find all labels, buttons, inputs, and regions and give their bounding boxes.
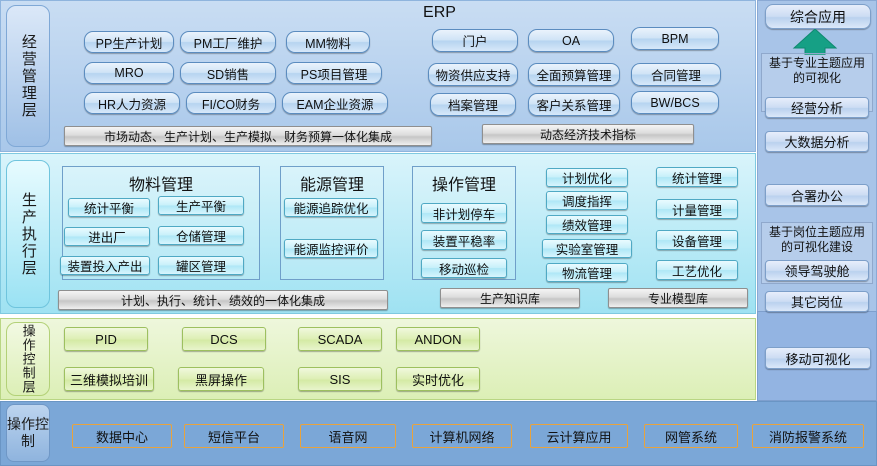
bar-integration-business[interactable]: 市场动态、生产计划、生产模拟、财务预算一体化集成 (64, 126, 432, 146)
ctl-dcs[interactable]: DCS (182, 327, 266, 351)
bar-economic-indicators[interactable]: 动态经济技术指标 (482, 124, 694, 144)
leader-cockpit-button[interactable]: 领导驾驶舱 (765, 260, 869, 281)
professional-visualization-caption: 基于专业主题应用 的可视化 (761, 56, 873, 86)
infra-sms-platform[interactable]: 短信平台 (184, 424, 284, 448)
metering-mgmt[interactable]: 计量管理 (656, 199, 738, 219)
material-tank-farm[interactable]: 罐区管理 (158, 256, 244, 275)
bigdata-analysis-button[interactable]: 大数据分析 (765, 131, 869, 152)
ctl-pid[interactable]: PID (64, 327, 148, 351)
erp-item-pm[interactable]: PM工厂维护 (180, 31, 276, 53)
app-oa[interactable]: OA (528, 29, 614, 52)
ctl-blackscreen[interactable]: 黑屏操作 (178, 367, 264, 391)
lab-management[interactable]: 实验室管理 (542, 239, 632, 258)
material-stat-balance[interactable]: 统计平衡 (68, 198, 150, 217)
ctl-andon[interactable]: ANDON (396, 327, 480, 351)
mobile-visualization-button[interactable]: 移动可视化 (765, 347, 871, 369)
op-unit-stability[interactable]: 装置平稳率 (421, 230, 507, 250)
app-supply[interactable]: 物资供应支持 (428, 63, 518, 86)
group-erp-title: ERP (1, 4, 877, 22)
group-material-title: 物料管理 (63, 171, 259, 195)
infra-computer-network[interactable]: 计算机网络 (412, 424, 512, 448)
material-prod-balance[interactable]: 生产平衡 (158, 196, 244, 215)
other-positions-button[interactable]: 其它岗位 (765, 291, 869, 312)
diagram-root: 经营管理层 ERP PP生产计划 PM工厂维护 MM物料 MRO SD销售 PS… (0, 0, 877, 466)
erp-item-pp[interactable]: PP生产计划 (84, 31, 174, 53)
infra-network-mgmt[interactable]: 网管系统 (644, 424, 738, 448)
business-analysis-button[interactable]: 经营分析 (765, 97, 869, 118)
material-in-out-plant[interactable]: 进出厂 (64, 227, 150, 246)
group-energy-title: 能源管理 (281, 171, 383, 195)
app-contract[interactable]: 合同管理 (631, 63, 721, 86)
ctl-3d-training[interactable]: 三维模拟培训 (64, 367, 154, 391)
up-arrow-icon (792, 29, 838, 55)
bar-integration-production[interactable]: 计划、执行、统计、绩效的一体化集成 (58, 290, 388, 310)
energy-monitor-eval[interactable]: 能源监控评价 (284, 239, 378, 258)
erp-item-hr[interactable]: HR人力资源 (84, 92, 180, 114)
app-budget[interactable]: 全面预算管理 (528, 63, 620, 86)
group-energy-management: 能源管理 (280, 166, 384, 280)
logistics-mgmt[interactable]: 物流管理 (546, 263, 628, 282)
equipment-mgmt[interactable]: 设备管理 (656, 230, 738, 250)
dispatch-command[interactable]: 调度指挥 (546, 191, 628, 210)
app-archive[interactable]: 档案管理 (430, 93, 516, 116)
infra-voice-network[interactable]: 语音网 (300, 424, 396, 448)
caption-line-2: 的可视化建设 (781, 240, 853, 254)
infra-fire-alarm[interactable]: 消防报警系统 (752, 424, 864, 448)
statistics-mgmt[interactable]: 统计管理 (656, 167, 738, 187)
layer-tab-production[interactable]: 生产执行层 (6, 160, 50, 308)
layer-tab-control-bottom[interactable]: 操作控制 (6, 404, 50, 462)
op-unplanned-stop[interactable]: 非计划停车 (421, 203, 507, 223)
plan-optimization[interactable]: 计划优化 (546, 168, 628, 187)
erp-item-sd[interactable]: SD销售 (180, 62, 276, 84)
group-operation-title: 操作管理 (413, 171, 515, 195)
erp-item-fico[interactable]: FI/CO财务 (186, 92, 276, 114)
material-unit-io[interactable]: 装置投入产出 (60, 256, 150, 275)
layer-tab-control[interactable]: 操作控制层 (6, 322, 50, 396)
bar-production-knowledge[interactable]: 生产知识库 (440, 288, 580, 308)
infra-cloud-computing[interactable]: 云计算应用 (530, 424, 628, 448)
infra-data-center[interactable]: 数据中心 (72, 424, 172, 448)
app-bpm[interactable]: BPM (631, 27, 719, 50)
layer-tab-business[interactable]: 经营管理层 (6, 5, 50, 147)
process-optimization[interactable]: 工艺优化 (656, 260, 738, 280)
comprehensive-application-button[interactable]: 综合应用 (765, 4, 871, 29)
app-portal[interactable]: 门户 (432, 29, 518, 52)
ctl-scada[interactable]: SCADA (298, 327, 382, 351)
caption-line-1: 基于专业主题应用 (769, 56, 865, 70)
erp-item-ps[interactable]: PS项目管理 (286, 62, 382, 84)
joint-office-button[interactable]: 合署办公 (765, 184, 869, 206)
position-visualization-caption: 基于岗位主题应用 的可视化建设 (761, 225, 873, 255)
erp-item-mm[interactable]: MM物料 (286, 31, 370, 53)
energy-tracking-opt[interactable]: 能源追踪优化 (284, 198, 378, 217)
layer-tab-control-bottom-label: 操作控制 (7, 416, 49, 449)
ctl-sis[interactable]: SIS (298, 367, 382, 391)
app-bwbcs[interactable]: BW/BCS (631, 91, 719, 114)
performance-mgmt[interactable]: 绩效管理 (546, 215, 628, 234)
app-crm[interactable]: 客户关系管理 (528, 93, 620, 116)
caption-line-1: 基于岗位主题应用 (769, 225, 865, 239)
ctl-realtime-opt[interactable]: 实时优化 (396, 367, 480, 391)
caption-line-2: 的可视化 (793, 71, 841, 85)
erp-item-eam[interactable]: EAM企业资源 (282, 92, 388, 114)
bar-professional-model[interactable]: 专业模型库 (608, 288, 748, 308)
op-mobile-patrol[interactable]: 移动巡检 (421, 258, 507, 278)
material-warehouse[interactable]: 仓储管理 (158, 226, 244, 245)
erp-item-mro[interactable]: MRO (84, 62, 174, 84)
